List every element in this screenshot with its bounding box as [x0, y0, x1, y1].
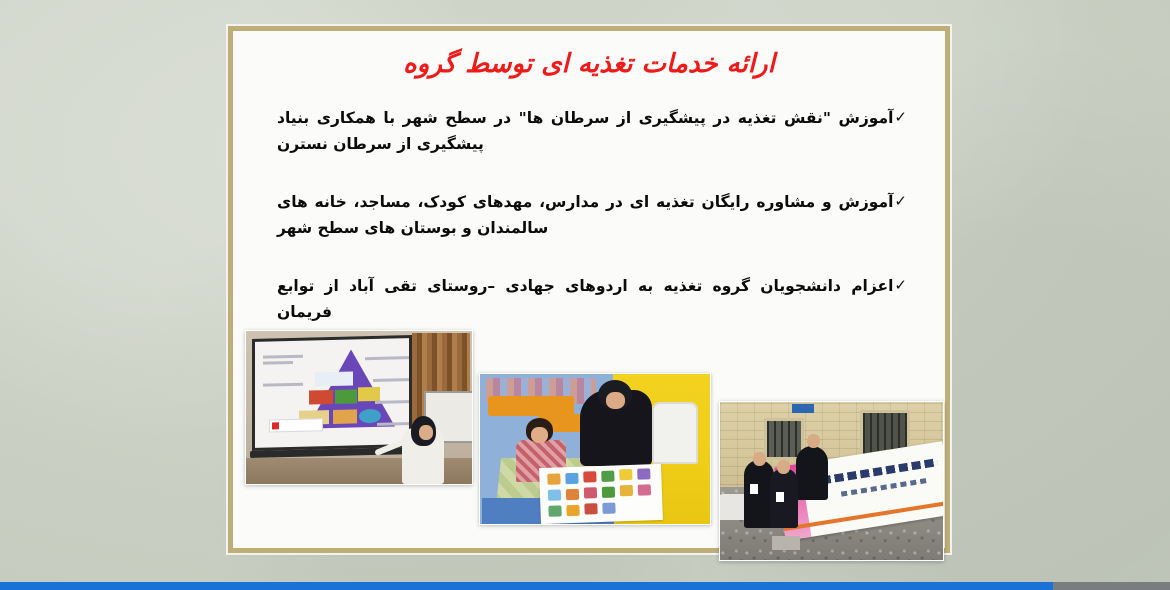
bullet-text-3: اعزام دانشجویان گروه تغذیه به اردوهای جه… [277, 273, 893, 325]
bullet-item-1: ✓ آموزش "نقش تغذیه در پیشگیری از سرطان ه… [277, 105, 907, 157]
playback-progress-fill [0, 582, 1053, 590]
bullet-list: ✓ آموزش "نقش تغذیه در پیشگیری از سرطان ه… [277, 105, 907, 357]
bullet-text-2: آموزش و مشاوره رایگان تغذیه ای در مدارس،… [277, 189, 893, 241]
slide-stage: ارائه خدمات تغذیه ای توسط گروه ✓ آموزش "… [0, 0, 1170, 590]
photo-kindergarten-nutrition-session [479, 373, 711, 525]
photo-lecture-food-pyramid [245, 330, 473, 485]
checkmark-icon: ✓ [894, 189, 907, 214]
photo-village-jihadi-camp-banner [719, 401, 944, 561]
slide-frame: ارائه خدمات تغذیه ای توسط گروه ✓ آموزش "… [228, 26, 950, 553]
bullet-item-2: ✓ آموزش و مشاوره رایگان تغذیه ای در مدار… [277, 189, 907, 241]
slide-title: ارائه خدمات تغذیه ای توسط گروه [233, 49, 945, 79]
checkmark-icon: ✓ [894, 105, 907, 130]
bullet-item-3: ✓ اعزام دانشجویان گروه تغذیه به اردوهای … [277, 273, 907, 325]
playback-progress-bar[interactable] [0, 582, 1170, 590]
bullet-text-1: آموزش "نقش تغذیه در پیشگیری از سرطان ها"… [277, 105, 893, 157]
photo-watermark [269, 418, 323, 432]
checkmark-icon: ✓ [894, 273, 907, 298]
